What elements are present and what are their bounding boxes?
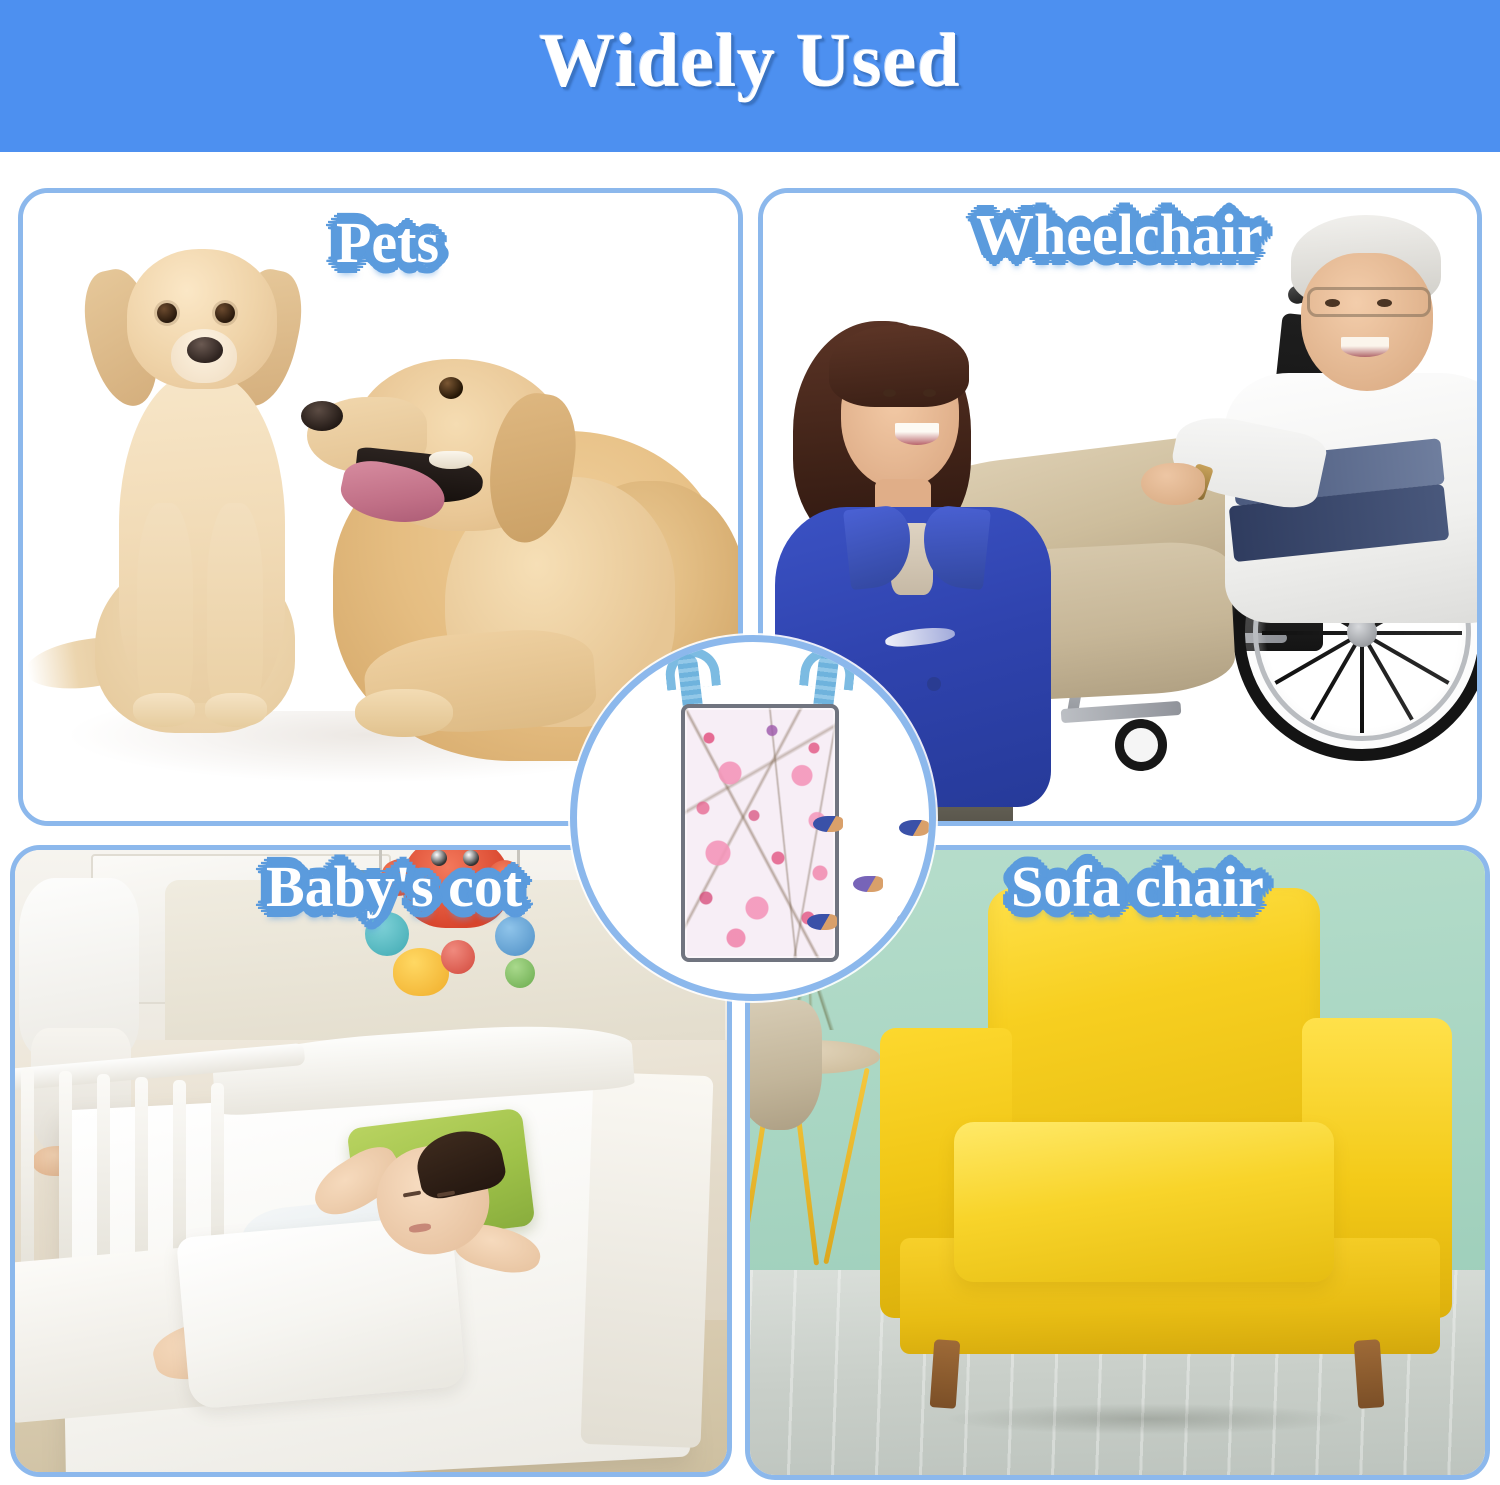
bird-motif — [899, 820, 929, 836]
yellow-armchair-illustration — [870, 888, 1470, 1408]
puppy-illustration — [75, 245, 345, 805]
center-product-circle[interactable] — [570, 635, 936, 1001]
label-pets: Pets — [320, 208, 455, 278]
header-band: Widely Used — [0, 0, 1500, 152]
label-sofa-chair: Sofa chair — [995, 852, 1280, 922]
bird-motif — [813, 816, 843, 832]
bird-motif — [807, 914, 837, 930]
infographic-page: Widely Used — [0, 0, 1500, 1485]
seat-pad-product — [577, 642, 929, 994]
label-wheelchair: Wheelchair — [960, 200, 1279, 270]
sleeping-baby-illustration — [165, 1140, 585, 1420]
bird-motif — [897, 912, 927, 928]
bird-motif — [859, 970, 889, 986]
elderly-man-illustration — [1063, 213, 1477, 821]
page-title: Widely Used — [0, 18, 1500, 105]
vase — [750, 1000, 822, 1130]
floral-pad — [681, 704, 839, 962]
label-babys-cot: Baby's cot — [250, 852, 538, 922]
bird-motif — [853, 876, 883, 892]
